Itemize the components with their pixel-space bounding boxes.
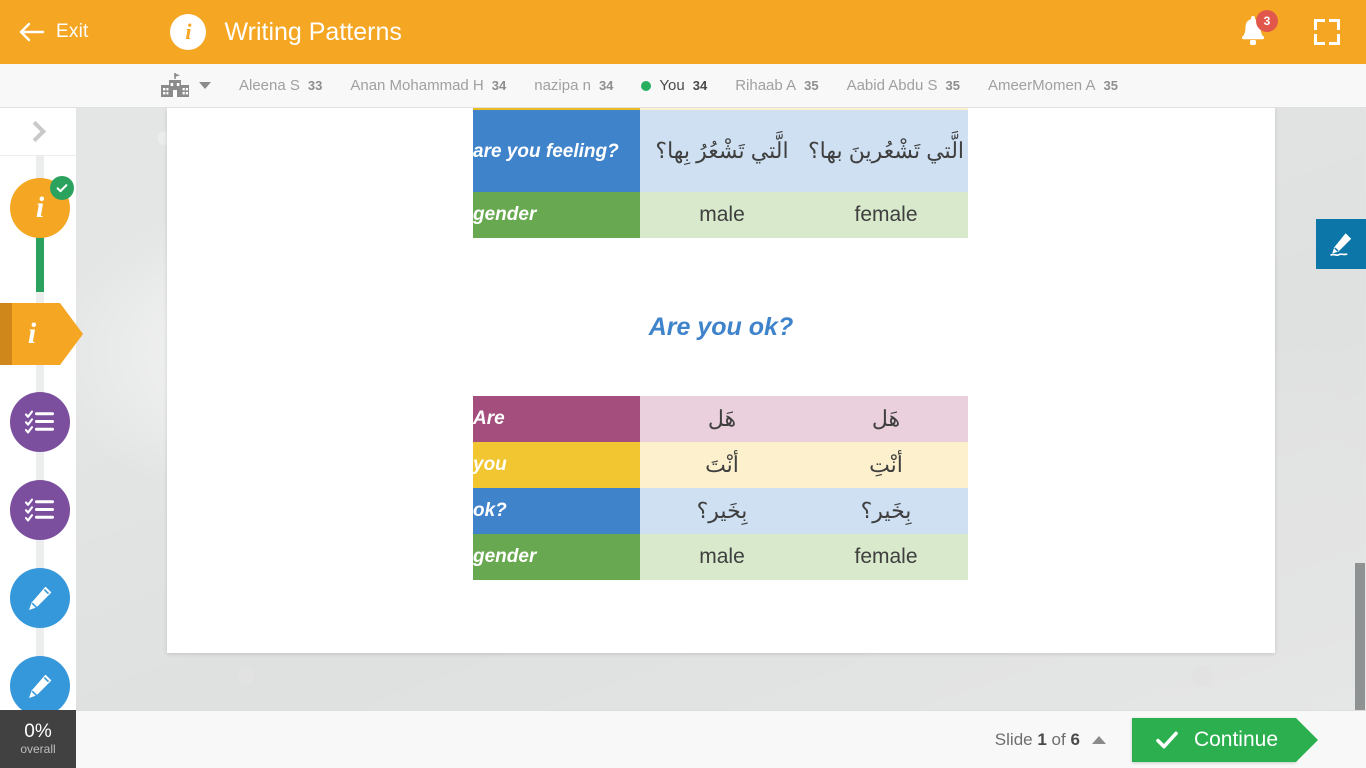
table-row-label: ok? xyxy=(473,488,640,534)
slide-prefix: Slide xyxy=(995,730,1033,749)
roster-student-name: Rihaab A xyxy=(735,77,796,94)
roster-student[interactable]: Aabid Abdu S35 xyxy=(847,77,960,94)
roster-student-name: Anan Mohammad H xyxy=(350,77,483,94)
table-row-label: are you feeling? xyxy=(473,110,640,192)
exit-button[interactable]: Exit xyxy=(18,20,88,44)
roster-student[interactable]: nazipa n34 xyxy=(534,77,613,94)
app-root: Exit i Writing Patterns 3 xyxy=(0,0,1366,768)
content-scrollbar[interactable] xyxy=(1352,216,1366,652)
overall-progress-percent: 0% xyxy=(24,722,51,742)
roster-student-score: 34 xyxy=(599,78,613,93)
roster-student[interactable]: AmeerMomen A35 xyxy=(988,77,1118,94)
notifications-button[interactable]: 3 xyxy=(1238,15,1268,49)
rail-node-checklist-1[interactable] xyxy=(10,392,70,452)
table-row-label: Are xyxy=(473,396,640,442)
table-row: gendermalefemale xyxy=(473,192,968,238)
expand-rail-button[interactable] xyxy=(0,108,76,156)
table-row-label: gender xyxy=(473,192,640,238)
slide-stage: symptomsالأعراضالأعراضare you feeling?ال… xyxy=(76,108,1366,710)
overall-progress-label: overall xyxy=(20,742,55,756)
school-building-icon xyxy=(160,73,190,99)
roster-student-name: nazipa n xyxy=(534,77,591,94)
pencil-signature-icon xyxy=(1328,231,1354,257)
lesson-progress-rail: i i xyxy=(0,108,76,768)
info-icon: i xyxy=(0,303,72,365)
slide-content: symptomsالأعراضالأعراضare you feeling?ال… xyxy=(167,108,1275,653)
roster-student[interactable]: Rihaab A35 xyxy=(735,77,818,94)
rail-node-pencil-1[interactable] xyxy=(10,568,70,628)
continue-button[interactable]: Continue xyxy=(1132,718,1296,762)
table-row: ok?بِخَير؟بِخَير؟ xyxy=(473,488,968,534)
scrollbar-thumb[interactable] xyxy=(1355,563,1365,710)
slide-counter[interactable]: Slide 1 of 6 xyxy=(995,730,1080,750)
roster-student-name: Aabid Abdu S xyxy=(847,77,938,94)
school-selector[interactable] xyxy=(160,73,211,99)
rail-node-checklist-2[interactable] xyxy=(10,480,70,540)
notification-badge: 3 xyxy=(1256,10,1278,32)
checklist-icon xyxy=(25,497,55,523)
pencil-icon xyxy=(26,584,54,612)
info-icon: i xyxy=(36,193,44,223)
fullscreen-corner-bl xyxy=(1314,34,1325,45)
roster-student-name: AmeerMomen A xyxy=(988,77,1096,94)
slide-card: symptomsالأعراضالأعراضare you feeling?ال… xyxy=(167,108,1275,653)
fullscreen-corner-tl xyxy=(1314,19,1325,30)
rail-node-info-current[interactable]: i xyxy=(0,303,72,365)
online-dot-icon xyxy=(641,81,651,91)
table-cell-male: الَّتي تَشْعُرُ بِها؟ xyxy=(640,110,804,192)
fullscreen-corner-tr xyxy=(1329,19,1340,30)
table-row-label: you xyxy=(473,442,640,488)
continue-label: Continue xyxy=(1194,728,1278,752)
title-group: i Writing Patterns xyxy=(170,14,401,50)
vocab-table-areyouok: Areهَلهَلyouأنْتَأنْتِok?بِخَير؟بِخَير؟g… xyxy=(473,396,968,580)
roster-student-name: Aleena S xyxy=(239,77,300,94)
table-cell-female: female xyxy=(804,534,968,580)
table-row: Areهَلهَل xyxy=(473,396,968,442)
roster-student[interactable]: Aleena S33 xyxy=(239,77,322,94)
table-row: youأنْتَأنْتِ xyxy=(473,442,968,488)
header-actions: 3 xyxy=(1238,15,1366,49)
slide-middle: of xyxy=(1052,730,1066,749)
table-row: are you feeling?الَّتي تَشْعُرُ بِها؟الَ… xyxy=(473,110,968,192)
table-cell-male: male xyxy=(640,192,804,238)
info-icon: i xyxy=(170,14,206,50)
fullscreen-button[interactable] xyxy=(1314,19,1340,45)
chevron-up-icon[interactable] xyxy=(1092,736,1106,744)
student-roster-bar: Aleena S33Anan Mohammad H34nazipa n34You… xyxy=(0,64,1366,108)
check-badge-icon xyxy=(50,176,74,200)
slide-footer: Slide 1 of 6 Continue xyxy=(76,710,1366,768)
chevron-down-icon xyxy=(199,82,211,89)
checklist-icon xyxy=(25,409,55,435)
table-cell-male: هَل xyxy=(640,396,804,442)
roster-student[interactable]: Anan Mohammad H34 xyxy=(350,77,506,94)
pencil-icon xyxy=(26,672,54,700)
table-cell-female: female xyxy=(804,192,968,238)
check-icon xyxy=(1154,727,1180,753)
roster-student-score: 34 xyxy=(693,78,707,93)
table-cell-male: male xyxy=(640,534,804,580)
table-cell-female: أنْتِ xyxy=(804,442,968,488)
roster-student[interactable]: You34 xyxy=(641,77,707,94)
roster-student-score: 35 xyxy=(945,78,959,93)
roster-student-score: 35 xyxy=(1104,78,1118,93)
overall-progress: 0% overall xyxy=(0,710,76,768)
slide-heading: Are you ok? xyxy=(167,313,1275,342)
fullscreen-corner-br xyxy=(1329,34,1340,45)
table-cell-male: بِخَير؟ xyxy=(640,488,804,534)
roster-list: Aleena S33Anan Mohammad H34nazipa n34You… xyxy=(211,77,1118,94)
roster-student-score: 35 xyxy=(804,78,818,93)
exit-label: Exit xyxy=(56,21,88,43)
roster-student-score: 34 xyxy=(492,78,506,93)
rail-node-pencil-2[interactable] xyxy=(10,656,70,716)
chevron-right-icon xyxy=(25,121,46,142)
app-header: Exit i Writing Patterns 3 xyxy=(0,0,1366,64)
table-cell-female: بِخَير؟ xyxy=(804,488,968,534)
table-cell-male: أنْتَ xyxy=(640,442,804,488)
back-arrow-icon xyxy=(18,20,46,44)
vocab-table-symptoms: symptomsالأعراضالأعراضare you feeling?ال… xyxy=(473,108,968,238)
table-cell-female: هَل xyxy=(804,396,968,442)
rail-node-info-completed[interactable]: i xyxy=(10,178,70,238)
table-row: gendermalefemale xyxy=(473,534,968,580)
slide-total: 6 xyxy=(1070,730,1079,749)
table-row-label: gender xyxy=(473,534,640,580)
roster-student-name: You xyxy=(659,77,684,94)
table-cell-female: الَّتي تَشْعُرينَ بها؟ xyxy=(804,110,968,192)
page-title: Writing Patterns xyxy=(224,18,401,47)
roster-student-score: 33 xyxy=(308,78,322,93)
slide-current: 1 xyxy=(1037,730,1046,749)
